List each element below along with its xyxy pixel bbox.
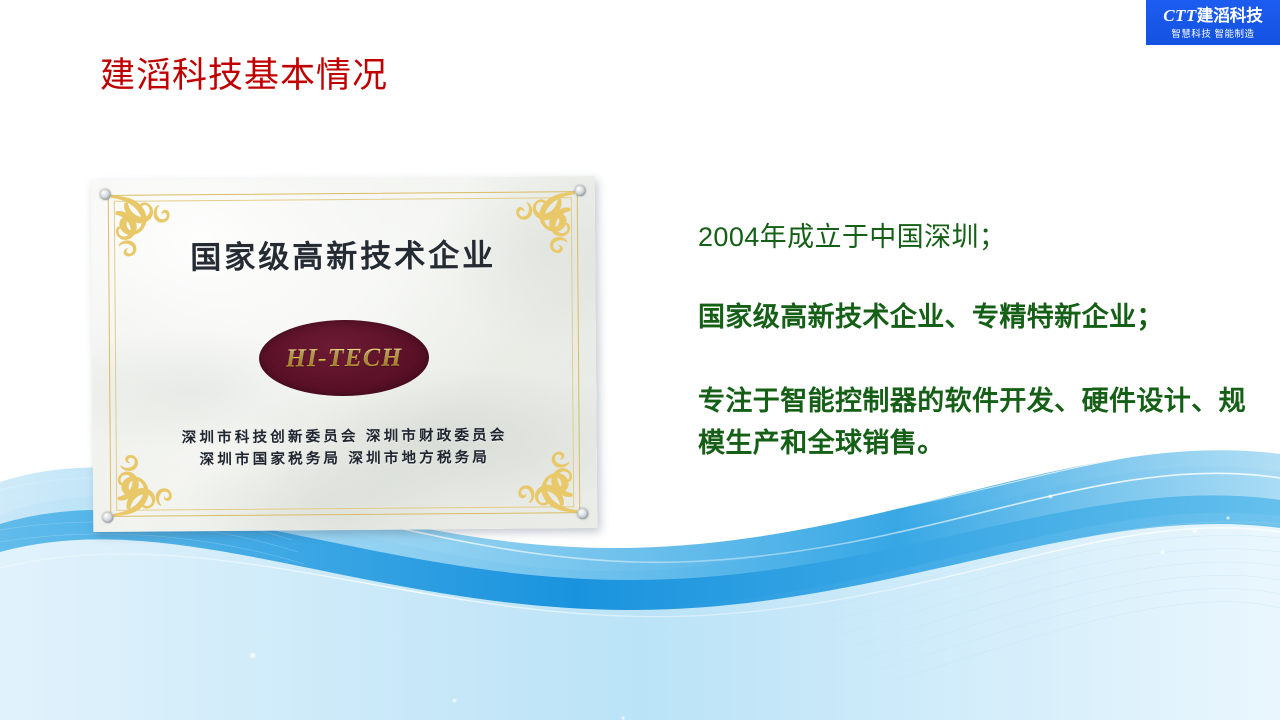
sparkle-dot: [1192, 528, 1198, 534]
company-fact-founded: 2004年成立于中国深圳；: [698, 218, 1250, 256]
plaque-screw: [575, 185, 586, 196]
plaque-screw: [102, 512, 113, 523]
plaque-screw: [100, 189, 111, 200]
brand-logo-chinese-name: 建滔科技: [1197, 7, 1263, 25]
sparkle-dot: [930, 464, 937, 471]
company-fact-business-scope: 专注于智能控制器的软件开发、硬件设计、规模生产和全球销售。: [698, 380, 1250, 464]
sparkle-dot: [452, 698, 457, 703]
sparkle-dot: [1160, 550, 1165, 555]
sparkle-dot: [660, 530, 664, 534]
sparkle-dot: [1226, 516, 1230, 520]
certificate-plaque: 国家级高新技术企业 HI-TECH 深圳市科技创新委员会 深圳市财政委员会 深圳…: [91, 176, 598, 532]
plaque-issuer-line: 深圳市科技创新委员会 深圳市财政委员会: [133, 424, 557, 449]
brand-logo-name: CTT建滔科技: [1163, 6, 1263, 26]
sparkle-dot: [621, 716, 625, 720]
brand-logo-tagline: 智慧科技 智能制造: [1171, 28, 1254, 41]
plaque-issuer-line: 深圳市国家税务局 深圳市地方税务局: [133, 446, 557, 471]
plaque-issuer-list: 深圳市科技创新委员会 深圳市财政委员会 深圳市国家税务局 深圳市地方税务局: [133, 424, 557, 471]
hi-tech-emblem-label: HI-TECH: [286, 343, 403, 374]
plaque-heading: 国家级高新技术企业: [91, 236, 595, 278]
sparkle-dot: [884, 506, 888, 510]
sparkle-dot: [249, 652, 256, 659]
plaque-screw: [577, 508, 588, 519]
company-fact-qualifications: 国家级高新技术企业、专精特新企业；: [698, 298, 1250, 336]
company-facts-list: 2004年成立于中国深圳； 国家级高新技术企业、专精特新企业； 专注于智能控制器…: [698, 218, 1250, 464]
brand-logo-latin-mark: CTT: [1163, 6, 1197, 25]
slide-canvas: CTT建滔科技 智慧科技 智能制造 建滔科技基本情况: [0, 0, 1280, 720]
brand-logo: CTT建滔科技 智慧科技 智能制造: [1146, 0, 1280, 45]
sparkle-dot: [836, 480, 841, 485]
page-title: 建滔科技基本情况: [100, 52, 388, 100]
sparkle-dot: [1048, 494, 1053, 499]
sparkle-dot: [710, 492, 716, 498]
